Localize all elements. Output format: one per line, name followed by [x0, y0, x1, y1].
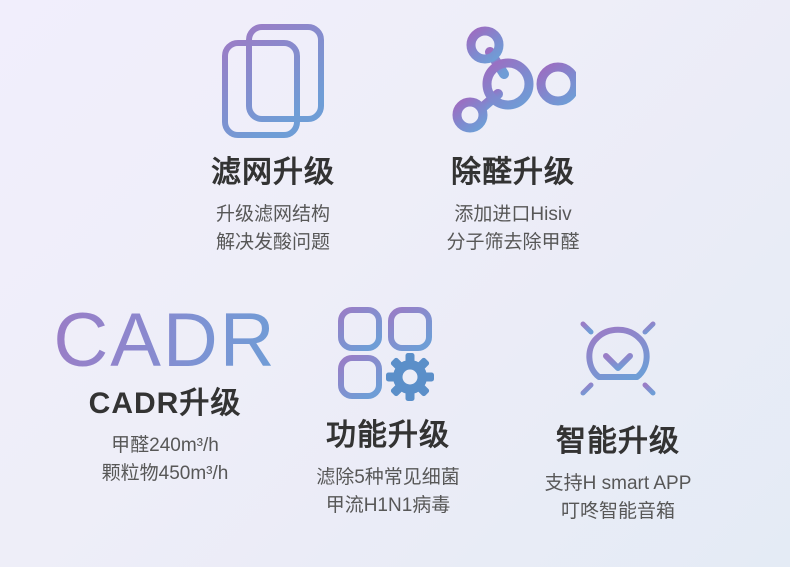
subtitle-line-2: 叮咚智能音箱: [545, 498, 692, 526]
squares-gear-icon: [336, 305, 440, 401]
feature-card-smart: 智能升级 支持H smart APP 叮咚智能音箱: [508, 305, 728, 525]
feature-card-aldehyde: 除醛升级 添加进口Hisiv 分子筛去除甲醛: [418, 22, 608, 256]
subtitle-line-1: 添加进口Hisiv: [446, 201, 579, 229]
feature-title: 滤网升级: [211, 156, 335, 189]
feature-subtitle: 升级滤网结构 解决发酸问题: [216, 201, 330, 256]
feature-title: 功能升级: [326, 419, 450, 452]
subtitle-line-2: 分子筛去除甲醛: [446, 229, 579, 257]
feature-subtitle: 添加进口Hisiv 分子筛去除甲醛: [446, 201, 579, 256]
subtitle-line-1: 滤除5种常见细菌: [316, 464, 460, 492]
feature-title: CADR升级: [89, 387, 242, 420]
subtitle-line-2: 颗粒物450m³/h: [102, 460, 229, 488]
feature-title: 除醛升级: [451, 156, 575, 189]
feature-subtitle: 滤除5种常见细菌 甲流H1N1病毒: [316, 464, 460, 519]
feature-card-function: 功能升级 滤除5种常见细菌 甲流H1N1病毒: [288, 305, 488, 519]
lightbulb-icon: [556, 305, 680, 405]
subtitle-line-1: 升级滤网结构: [216, 201, 330, 229]
cadr-wordmark: CADR: [53, 305, 276, 377]
feature-title: 智能升级: [556, 425, 680, 458]
feature-subtitle: 支持H smart APP 叮咚智能音箱: [545, 470, 692, 525]
feature-card-filter: 滤网升级 升级滤网结构 解决发酸问题: [178, 22, 368, 256]
feature-card-cadr: CADR CADR升级 甲醛240m³/h 颗粒物450m³/h: [50, 305, 280, 487]
subtitle-line-2: 甲流H1N1病毒: [316, 492, 460, 520]
promo-page: 滤网升级 升级滤网结构 解决发酸问题: [0, 0, 790, 567]
subtitle-line-2: 解决发酸问题: [216, 229, 330, 257]
subtitle-line-1: 支持H smart APP: [545, 470, 692, 498]
feature-subtitle: 甲醛240m³/h 颗粒物450m³/h: [102, 432, 229, 487]
filter-mesh-icon: [217, 22, 329, 140]
molecule-icon: [450, 22, 576, 138]
subtitle-line-1: 甲醛240m³/h: [102, 432, 229, 460]
